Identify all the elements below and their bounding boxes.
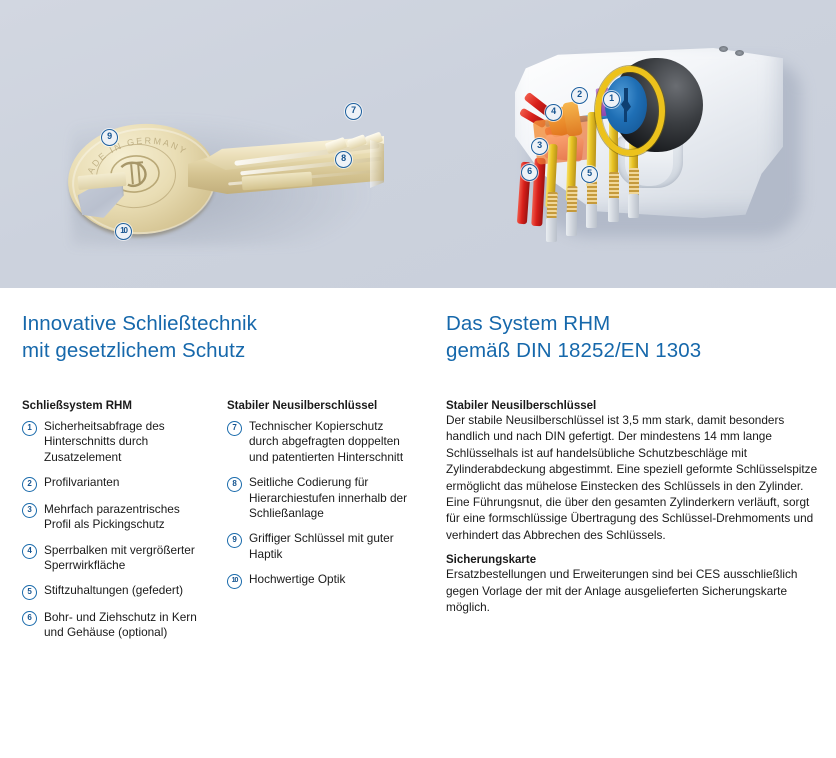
cylinder-callout-1: 1: [603, 91, 620, 108]
left-panel-title-line2: mit gesetzlichem Schutz: [22, 337, 422, 364]
list-text-7: Technischer Kopierschutz durch abgefragt…: [249, 419, 412, 465]
list-number-7: 7: [227, 421, 242, 436]
key-tip: [370, 140, 384, 188]
cylinder-callout-5: 5: [581, 166, 598, 183]
right-panel-body: Stabiler Neusilberschlüssel Der stabile …: [446, 400, 818, 615]
list-item: 7 Technischer Kopierschutz durch abgefra…: [227, 419, 412, 465]
housing-pin-4: [608, 198, 619, 222]
cylinder-callout-3: 3: [531, 138, 548, 155]
section-body-sicherungskarte: Ersatzbestellungen und Erweiterungen sin…: [446, 566, 818, 615]
list-item: 5 Stiftzuhaltungen (gefedert): [22, 583, 207, 600]
left-panel-lists: Schließsystem RHM 1 Sicherheitsabfrage d…: [22, 400, 422, 651]
list-text-2: Profilvarianten: [44, 475, 207, 492]
cylinder-callout-4: 4: [545, 104, 562, 121]
left-panel-title-line1: Innovative Schließtechnik: [22, 312, 257, 335]
list-number-9: 9: [227, 533, 242, 548]
list-item: 6 Bohr- und Ziehschutz in Kern und Gehäu…: [22, 610, 207, 641]
list-group-b-heading: Stabiler Neusilberschlüssel: [227, 400, 412, 412]
cutaway-profile-cylinder-photo: 1 2 3 4 5 6: [505, 40, 825, 252]
right-panel: Das System RHM gemäß DIN 18252/EN 1303 S…: [446, 310, 818, 615]
list-number-6: 6: [22, 611, 37, 626]
list-item: 8 Seitliche Codierung für Hierarchiestuf…: [227, 475, 412, 521]
key-callout-8: 8: [335, 151, 352, 168]
list-text-4: Sperrbalken mit vergrößerter Sperrwirkfl…: [44, 543, 207, 574]
list-text-8: Seitliche Codierung für Hierarchiestufen…: [249, 475, 412, 521]
list-number-4: 4: [22, 544, 37, 559]
list-text-5: Stiftzuhaltungen (gefedert): [44, 583, 207, 600]
list-group-schliesssystem: Schließsystem RHM 1 Sicherheitsabfrage d…: [22, 400, 207, 651]
brass-key-photo: MADE IN GERMANY 7 8 9 10: [60, 86, 390, 266]
list-item: 10 Hochwertige Optik: [227, 572, 412, 589]
list-text-3: Mehrfach parazentrisches Profil als Pick…: [44, 502, 207, 533]
list-text-9: Griffiger Schlüssel mit guter Haptik: [249, 531, 412, 562]
list-number-10: 10: [227, 574, 242, 589]
key-callout-9: 9: [101, 129, 118, 146]
hero-image-band: MADE IN GERMANY 7 8 9 10: [0, 0, 836, 288]
cylinder-callout-6: 6: [521, 164, 538, 181]
list-item: 9 Griffiger Schlüssel mit guter Haptik: [227, 531, 412, 562]
content-area: Innovative Schließtechnik mit gesetzlich…: [0, 288, 836, 758]
right-panel-title-line2: gemäß DIN 18252/EN 1303: [446, 337, 818, 364]
list-item: 1 Sicherheitsabfrage des Hinterschnitts …: [22, 419, 207, 465]
list-number-3: 3: [22, 503, 37, 518]
numbered-list-b: 7 Technischer Kopierschutz durch abgefra…: [227, 419, 412, 589]
list-item: 2 Profilvarianten: [22, 475, 207, 492]
cylinder-callout-2: 2: [571, 87, 588, 104]
left-panel-title: Innovative Schließtechnik mit gesetzlich…: [22, 310, 422, 364]
list-item: 3 Mehrfach parazentrisches Profil als Pi…: [22, 502, 207, 533]
section-body-neusilberschluessel: Der stabile Neusilberschlüssel ist 3,5 m…: [446, 412, 818, 543]
list-group-neusilberschluessel: Stabiler Neusilberschlüssel 7 Technische…: [227, 400, 412, 651]
list-number-8: 8: [227, 477, 242, 492]
list-text-10: Hochwertige Optik: [249, 572, 412, 589]
list-item: 4 Sperrbalken mit vergrößerter Sperrwirk…: [22, 543, 207, 574]
housing-pin-1: [546, 218, 557, 242]
key-blade: [188, 116, 384, 220]
list-number-2: 2: [22, 477, 37, 492]
left-panel: Innovative Schließtechnik mit gesetzlich…: [22, 310, 422, 651]
housing-pin-3: [586, 204, 597, 228]
cylinder-screw-2: [735, 50, 744, 56]
housing-pin-2: [566, 212, 577, 236]
section-heading-neusilberschluessel: Stabiler Neusilberschlüssel: [446, 400, 818, 412]
list-number-5: 5: [22, 585, 37, 600]
key-callout-7: 7: [345, 103, 362, 120]
cylinder-screw-1: [719, 46, 728, 52]
key-callout-10: 10: [115, 223, 132, 240]
list-number-1: 1: [22, 421, 37, 436]
list-group-a-heading: Schließsystem RHM: [22, 400, 207, 412]
housing-pin-5: [628, 194, 639, 218]
numbered-list-a: 1 Sicherheitsabfrage des Hinterschnitts …: [22, 419, 207, 641]
right-panel-title-line1: Das System RHM: [446, 312, 610, 335]
list-text-6: Bohr- und Ziehschutz in Kern und Gehäuse…: [44, 610, 207, 641]
right-panel-title: Das System RHM gemäß DIN 18252/EN 1303: [446, 310, 818, 364]
list-text-1: Sicherheitsabfrage des Hinterschnitts du…: [44, 419, 207, 465]
section-heading-sicherungskarte: Sicherungskarte: [446, 554, 818, 566]
